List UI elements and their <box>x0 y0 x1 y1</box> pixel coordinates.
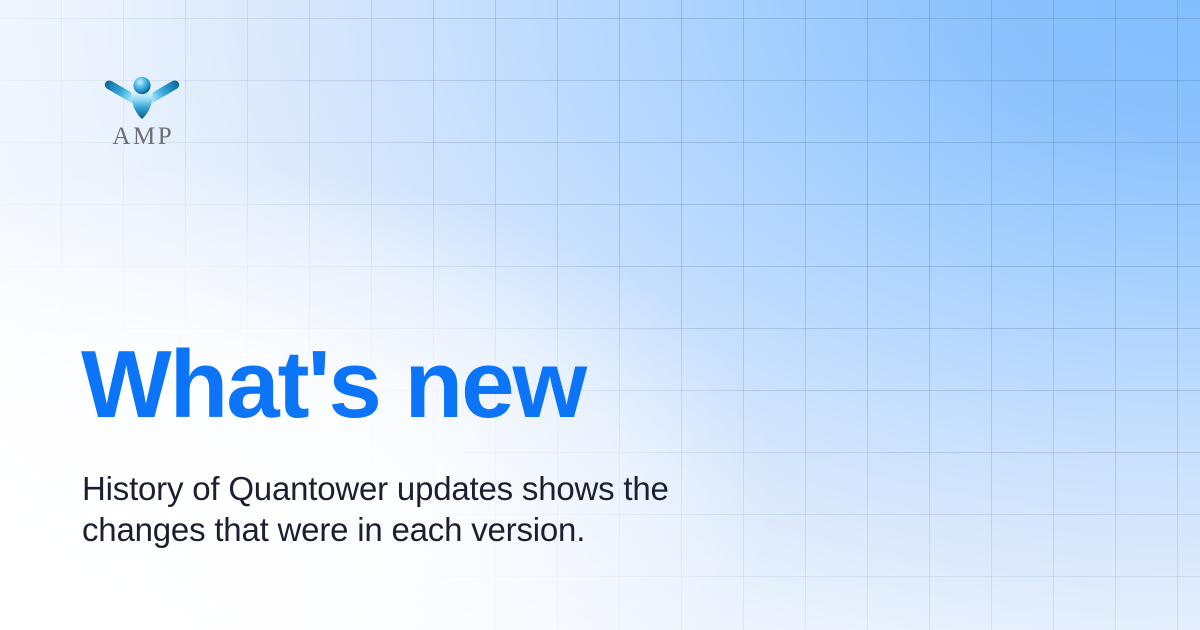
whats-new-banner: AMP What's new History of Quantower upda… <box>0 0 1200 630</box>
amp-figure-logo-icon <box>101 72 183 120</box>
amp-logo[interactable]: AMP <box>101 72 183 149</box>
amp-wordmark: AMP <box>101 124 183 149</box>
page-subtitle: History of Quantower updates shows the c… <box>82 468 782 550</box>
page-title: What's new <box>81 337 585 433</box>
